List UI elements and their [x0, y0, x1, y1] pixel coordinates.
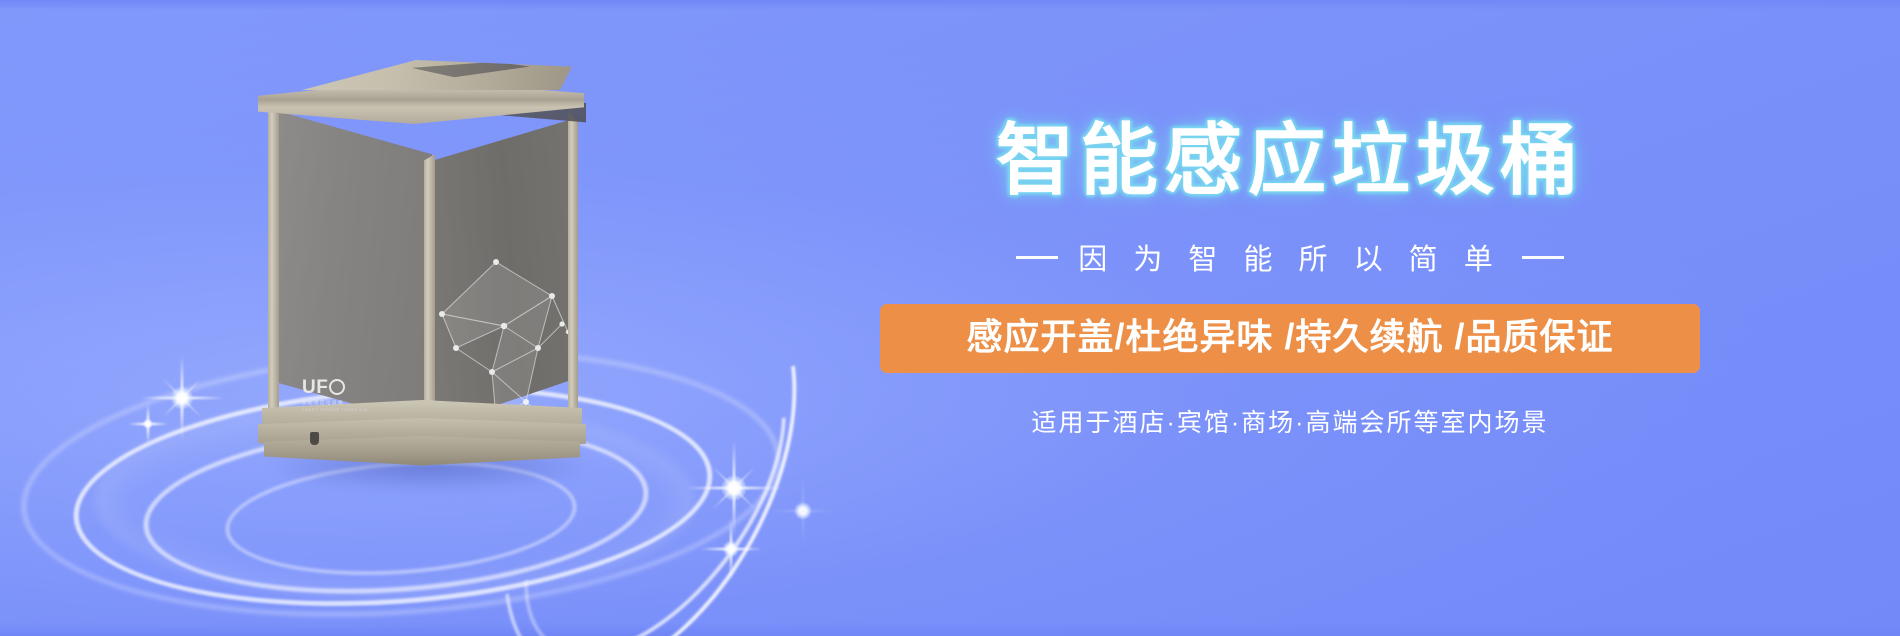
brand-wordmark-text: UF: [302, 377, 328, 398]
divider-dash-left: [1016, 256, 1058, 259]
feature-badge: 感应开盖/杜绝异味 /持久续航 /品质保证: [880, 304, 1700, 372]
feature-badge-text: 感应开盖/杜绝异味 /持久续航 /品质保证: [966, 316, 1613, 357]
page-title: 智能感应垃圾桶: [880, 118, 1700, 202]
brand-tagline-en: SMART SENSOR TRASH BIN: [302, 408, 370, 412]
usage-scenes-text: 适用于酒店·宾馆·商场·高端会所等室内场景: [880, 403, 1700, 439]
subtitle-text: 因 为 智 能 所 以 简 单: [1078, 236, 1501, 278]
ring-o-icon: [329, 379, 345, 395]
background-edge-bottom: [0, 622, 1900, 636]
promo-banner: UF 智能感应垃圾桶 SMART SENSOR TRASH BIN 智能感应垃圾…: [0, 0, 1900, 636]
bin-base-latch: [310, 432, 319, 445]
product-image-trash-bin: UF 智能感应垃圾桶 SMART SENSOR TRASH BIN: [248, 60, 596, 460]
divider-dash-right: [1522, 256, 1564, 259]
bin-lid-top: [272, 60, 572, 90]
bin-edge-right: [568, 112, 578, 424]
brand-logo: UF 智能感应垃圾桶 SMART SENSOR TRASH BIN: [302, 378, 370, 426]
bin-edge-left: [268, 108, 279, 430]
bin-edge-center: [424, 116, 435, 434]
brand-wordmark: UF: [302, 378, 370, 397]
subtitle-row: 因 为 智 能 所 以 简 单: [880, 236, 1700, 278]
brand-tagline-cn: 智能感应垃圾桶: [302, 400, 370, 406]
background-edge-top: [0, 0, 1900, 10]
banner-copy-column: 智能感应垃圾桶 因 为 智 能 所 以 简 单 感应开盖/杜绝异味 /持久续航 …: [880, 118, 1700, 439]
